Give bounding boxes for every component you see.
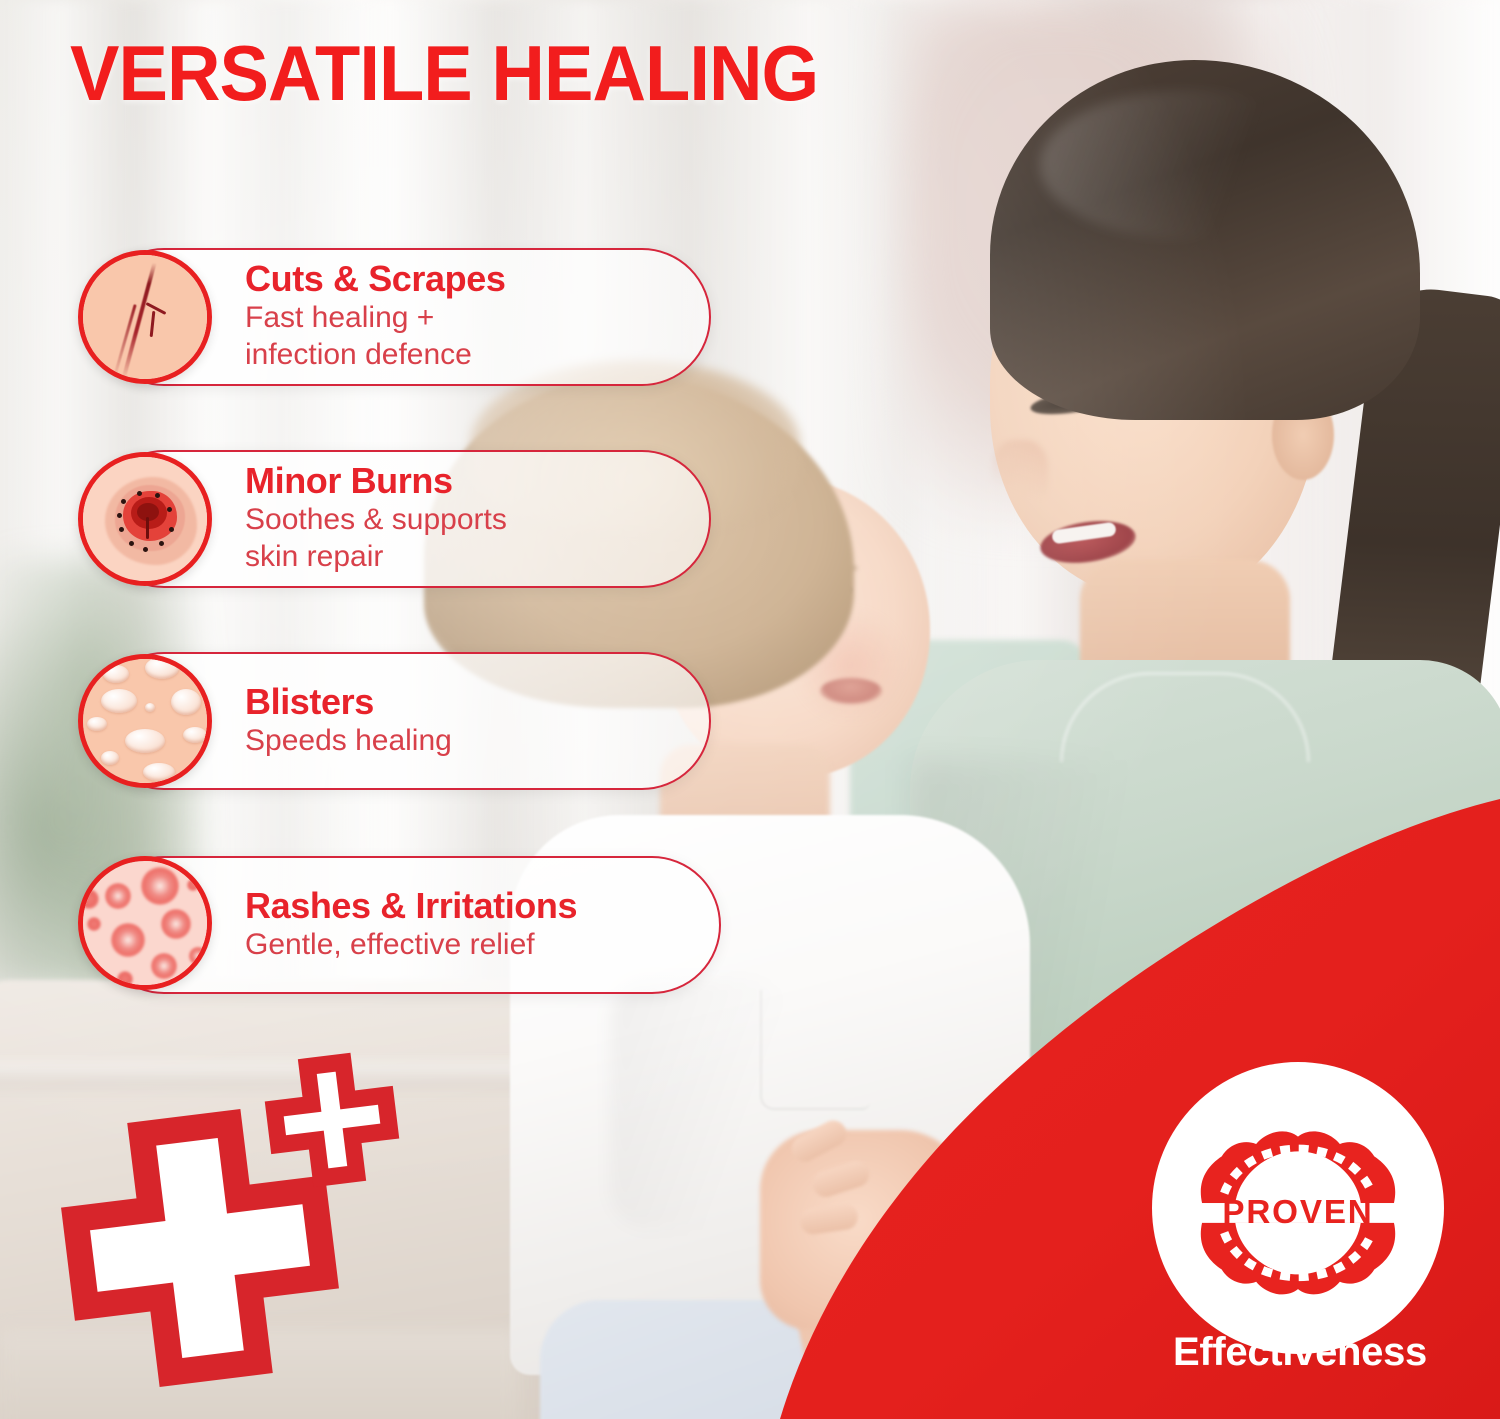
- rash-spot: [141, 867, 179, 905]
- blister-blob: [143, 763, 175, 781]
- rash-spot: [187, 879, 199, 891]
- rash-spot: [111, 923, 145, 957]
- burn-speck: [159, 541, 164, 546]
- feature-title: Minor Burns: [245, 462, 507, 501]
- burn-speck: [129, 541, 134, 546]
- blister-blob: [103, 665, 129, 683]
- burn-speck: [121, 499, 126, 504]
- feature-subtitle: Soothes & supports skin repair: [245, 502, 507, 575]
- rash-spot: [105, 883, 131, 909]
- skin-rash-icon: [78, 856, 212, 990]
- burn-speck: [117, 513, 122, 518]
- feature-subtitle: Fast healing + infection defence: [245, 300, 506, 373]
- feature-title: Cuts & Scrapes: [245, 260, 506, 299]
- page-title: VERSATILE HEALING: [70, 28, 818, 119]
- rash-spot: [161, 909, 191, 939]
- rash-spot: [151, 953, 177, 979]
- blister-blob: [183, 727, 207, 743]
- product-feature-banner: VERSATILE HEALING Cuts & Scrapes Fast he…: [0, 0, 1500, 1419]
- burn-speck: [137, 491, 142, 496]
- proven-effectiveness-caption: Proven Effectiveness: [1130, 1288, 1470, 1374]
- blister-blob: [125, 729, 165, 753]
- icon-skin-base: [83, 255, 207, 379]
- burn-speck: [169, 527, 174, 532]
- blister-blob: [145, 703, 155, 712]
- blister-blob: [145, 657, 179, 679]
- blister-blob: [101, 751, 119, 765]
- feature-text-block: Minor Burns Soothes & supports skin repa…: [245, 462, 507, 575]
- skin-cut-icon: [78, 250, 212, 384]
- burn-stem: [146, 517, 149, 539]
- skin-blister-icon: [78, 654, 212, 788]
- proven-stamp-label: PROVEN: [1222, 1194, 1373, 1231]
- skin-burn-icon: [78, 452, 212, 586]
- photo-toddler-mouth: [820, 678, 882, 704]
- feature-title: Rashes & Irritations: [245, 887, 577, 926]
- burn-speck: [119, 527, 124, 532]
- blister-blob: [171, 689, 201, 715]
- feature-title: Blisters: [245, 683, 452, 722]
- blister-blob: [101, 689, 137, 713]
- rash-spot: [117, 971, 133, 987]
- rash-spot: [87, 917, 101, 931]
- burn-speck: [143, 547, 148, 552]
- burn-speck: [167, 507, 172, 512]
- burn-speck: [155, 493, 160, 498]
- feature-text-block: Cuts & Scrapes Fast healing + infection …: [245, 260, 506, 373]
- feature-text-block: Blisters Speeds healing: [245, 683, 452, 759]
- feature-text-block: Rashes & Irritations Gentle, effective r…: [245, 887, 577, 963]
- rash-spot: [189, 947, 207, 965]
- medical-cross-icon: [262, 1050, 402, 1190]
- blister-blob: [87, 717, 107, 731]
- photo-mother-hair-sheen: [1040, 90, 1340, 240]
- feature-subtitle: Speeds healing: [245, 723, 452, 760]
- feature-subtitle: Gentle, effective relief: [245, 927, 577, 964]
